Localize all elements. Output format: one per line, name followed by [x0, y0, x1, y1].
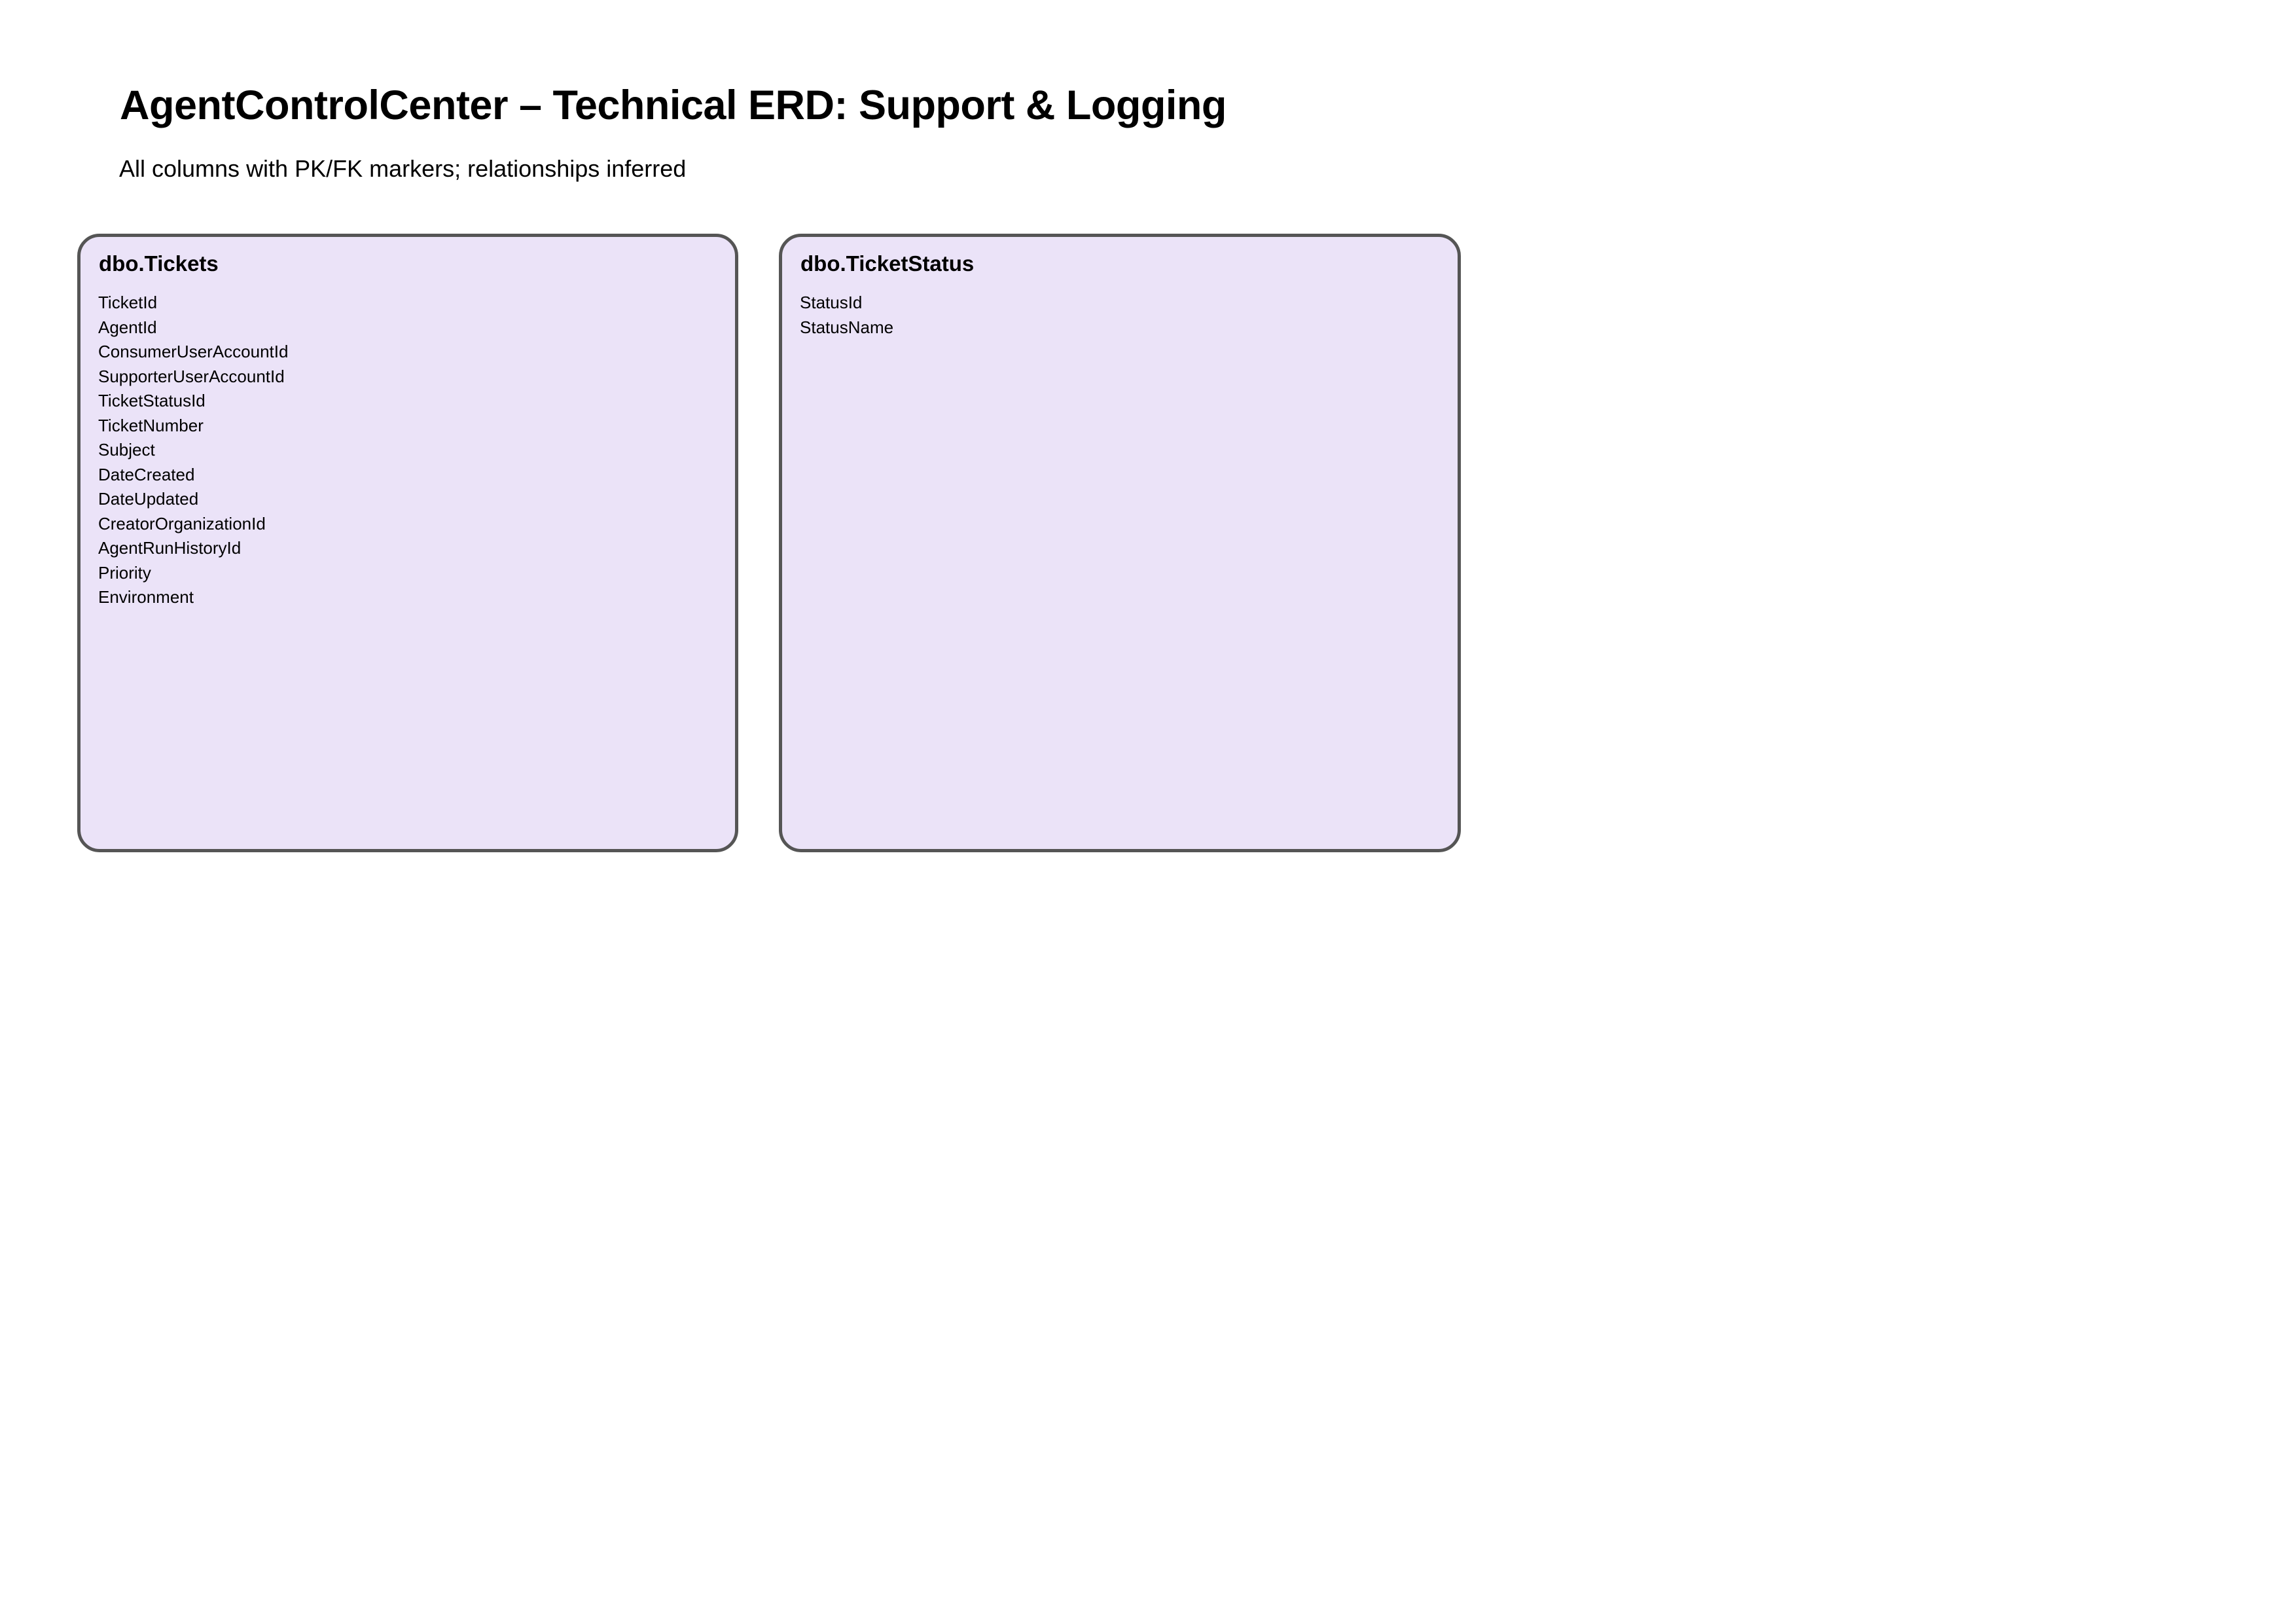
entity-name: dbo.TicketStatus [800, 253, 974, 274]
entity-column: Subject [98, 438, 727, 463]
entity-box[interactable]: dbo.TicketsTicketIdAgentIdConsumerUserAc… [77, 234, 738, 852]
entity-column: DateUpdated [98, 487, 727, 512]
entity-column-list: StatusIdStatusName [800, 291, 1450, 340]
entities-layer: dbo.TicketsTicketIdAgentIdConsumerUserAc… [0, 0, 2296, 1624]
entity-column: ConsumerUserAccountId [98, 340, 727, 365]
entity-column: Priority [98, 561, 727, 586]
entity-column: DateCreated [98, 463, 727, 488]
entity-column-list: TicketIdAgentIdConsumerUserAccountIdSupp… [98, 291, 727, 610]
entity-column: TicketId [98, 291, 727, 316]
entity-column: Environment [98, 585, 727, 610]
entity-column: CreatorOrganizationId [98, 512, 727, 537]
entity-column: TicketNumber [98, 414, 727, 439]
entity-column: AgentId [98, 316, 727, 340]
entity-column: SupporterUserAccountId [98, 365, 727, 389]
entity-column: TicketStatusId [98, 389, 727, 414]
entity-column: StatusId [800, 291, 1450, 316]
entity-column: StatusName [800, 316, 1450, 340]
diagram-canvas: AgentControlCenter – Technical ERD: Supp… [0, 0, 2296, 1624]
entity-box[interactable]: dbo.TicketStatusStatusIdStatusName [779, 234, 1461, 852]
entity-column: AgentRunHistoryId [98, 536, 727, 561]
entity-name: dbo.Tickets [99, 253, 219, 274]
